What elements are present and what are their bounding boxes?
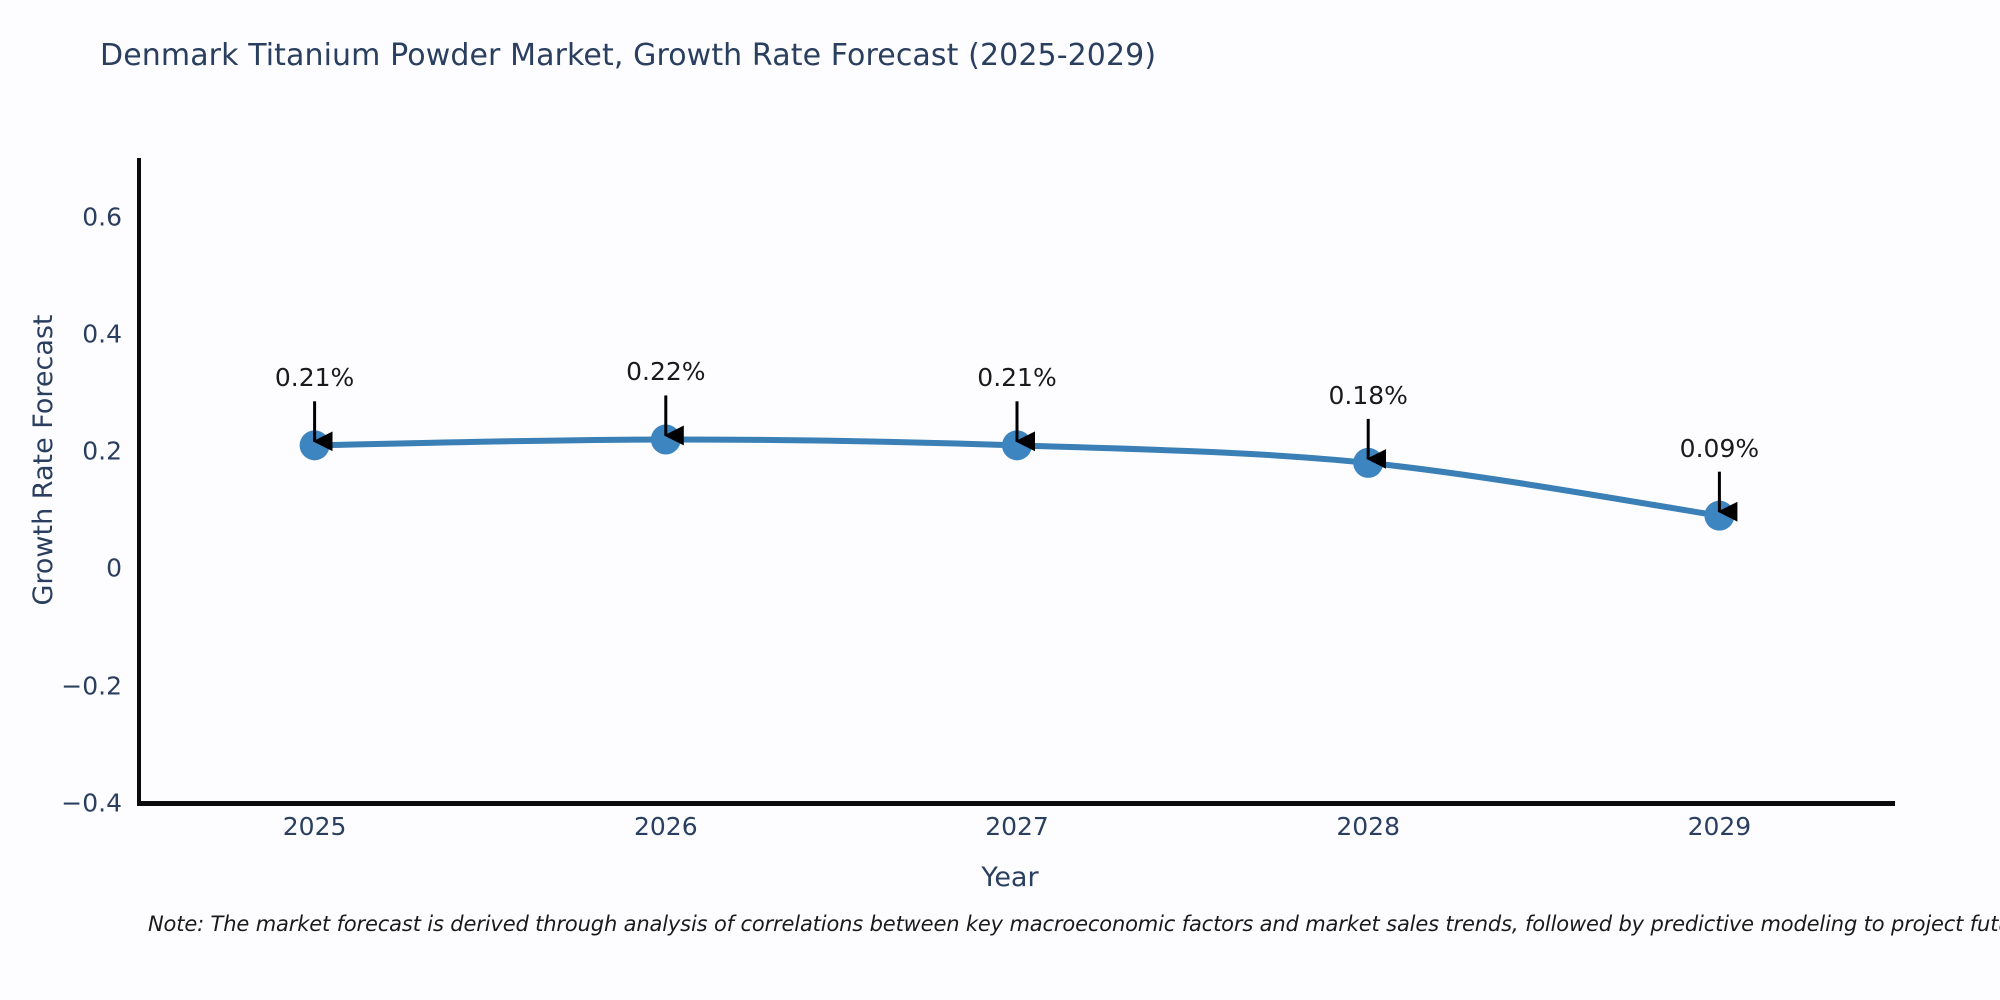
data-point-label: 0.21%	[977, 363, 1056, 392]
chart-page: Denmark Titanium Powder Market, Growth R…	[0, 0, 2000, 1000]
data-point-label: 0.09%	[1680, 434, 1759, 463]
data-point-label: 0.22%	[626, 357, 705, 386]
data-point-label: 0.21%	[275, 363, 354, 392]
footnote-note: Note: The market forecast is derived thr…	[148, 912, 2000, 936]
line-chart-plot	[0, 0, 2000, 1000]
data-point-label: 0.18%	[1328, 381, 1407, 410]
